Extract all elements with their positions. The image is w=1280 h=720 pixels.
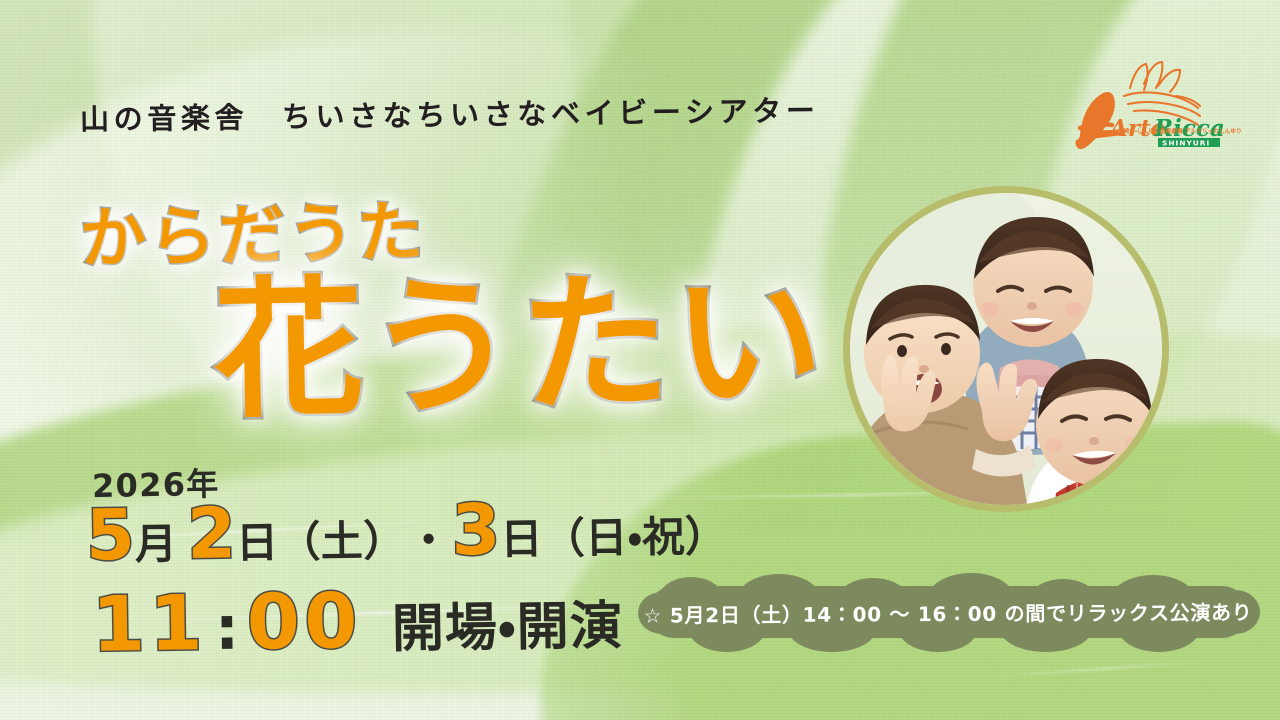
poster-content: 山の音楽舎 ちいさなちいさなベイビーシアター からだうた 花うたい 2026年 … [0,0,1280,720]
photo-circle-frame [843,186,1169,512]
date-separator: ・ [405,519,452,562]
date-day2-weekday: （日・祝） [543,516,728,561]
date-day1-label: 日 [236,522,279,565]
date-day1-weekday: （土） [278,520,406,564]
date-day2-number: 3 [451,495,501,566]
kicker-text: 山の音楽舎 ちいさなちいさなベイビーシアター [80,87,820,138]
photo-babies [850,193,1162,505]
time-colon: : [207,599,248,660]
arte-ricca-logo: Arte Ricca SHINYURI [1072,56,1232,152]
poster-canvas: 山の音楽舎 ちいさなちいさなベイビーシアター からだうた 花うたい 2026年 … [0,0,1280,720]
date-month-label: 月 [135,523,178,566]
date-month-number: 5 [86,500,136,571]
note-text: ☆ 5月2日（土）14：00 〜 16：00 の間でリラックス公演あり [648,584,1248,639]
time-line: 11 : 00 開場・開演 [91,579,623,662]
time-hour: 11 [91,585,207,663]
date-day1-number: 2 [177,498,237,569]
time-label: 開場・開演 [362,600,624,656]
main-title-hanautai: 花うたい [213,267,828,428]
date-line: 5 月 2 日 （土） ・ 3 日 （日・祝） [86,492,728,571]
logo-subtitle-japanese: 川崎市・しんゆり芸術劇場 アルテリッカしんゆり [1118,127,1242,135]
time-minute: 00 [246,583,362,661]
relax-performance-note: ☆ 5月2日（土）14：00 〜 16：00 の間でリラックス公演あり [648,586,1248,638]
date-day2-label: 日 [500,518,543,561]
logo-shinyuri-text: SHINYURI [1162,139,1210,148]
